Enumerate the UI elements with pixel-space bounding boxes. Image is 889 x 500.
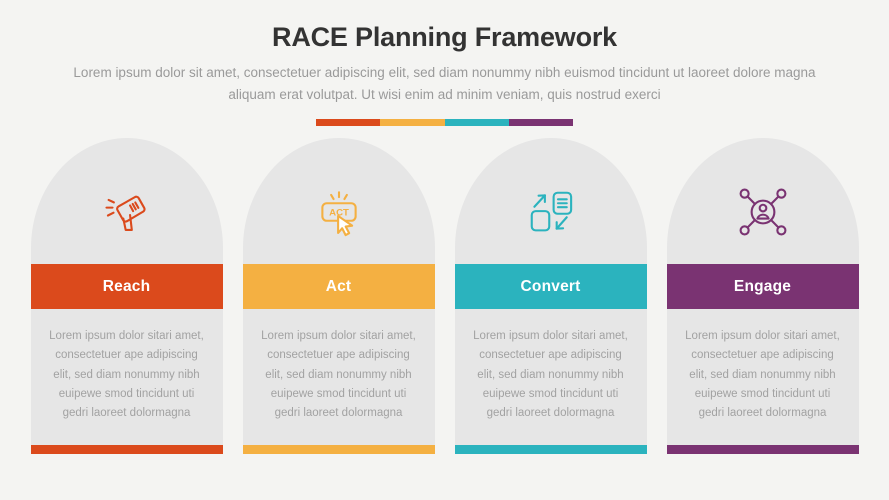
divider-segment-convert xyxy=(445,119,509,126)
transfer-document-icon xyxy=(523,184,579,240)
card-footer-bar-reach xyxy=(31,445,223,454)
divider-segment-engage xyxy=(509,119,573,126)
card-footer-bar-act xyxy=(243,445,435,454)
card-icon-area-act: ACT xyxy=(243,138,435,264)
page-subtitle: Lorem ipsum dolor sit amet, consectetuer… xyxy=(60,62,830,106)
card-icon-area-reach xyxy=(31,138,223,264)
card-icon-area-convert xyxy=(455,138,647,264)
user-network-icon xyxy=(735,184,791,240)
card-engage[interactable]: Engage Lorem ipsum dolor sitari amet, co… xyxy=(667,138,859,454)
infographic-slide: RACE Planning Framework Lorem ipsum dolo… xyxy=(0,0,889,500)
card-convert[interactable]: Convert Lorem ipsum dolor sitari amet, c… xyxy=(455,138,647,454)
page-title: RACE Planning Framework xyxy=(0,22,889,53)
cards-row: Reach Lorem ipsum dolor sitari amet, con… xyxy=(0,138,889,454)
card-footer-bar-convert xyxy=(455,445,647,454)
divider-segment-act xyxy=(380,119,444,126)
card-title-act: Act xyxy=(243,264,435,309)
act-click-button-icon: ACT xyxy=(311,184,367,240)
color-divider xyxy=(316,119,573,126)
card-title-convert: Convert xyxy=(455,264,647,309)
card-reach[interactable]: Reach Lorem ipsum dolor sitari amet, con… xyxy=(31,138,223,454)
card-act[interactable]: ACT Act Lorem ipsum dolor sitari amet, c… xyxy=(243,138,435,454)
megaphone-icon xyxy=(99,184,155,240)
card-title-reach: Reach xyxy=(31,264,223,309)
card-title-engage: Engage xyxy=(667,264,859,309)
act-icon-label: ACT xyxy=(329,208,349,219)
card-body-engage: Lorem ipsum dolor sitari amet, consectet… xyxy=(667,309,859,445)
card-body-reach: Lorem ipsum dolor sitari amet, consectet… xyxy=(31,309,223,445)
card-icon-area-engage xyxy=(667,138,859,264)
card-footer-bar-engage xyxy=(667,445,859,454)
card-body-convert: Lorem ipsum dolor sitari amet, consectet… xyxy=(455,309,647,445)
header: RACE Planning Framework Lorem ipsum dolo… xyxy=(0,0,889,126)
divider-segment-reach xyxy=(316,119,380,126)
card-body-act: Lorem ipsum dolor sitari amet, consectet… xyxy=(243,309,435,445)
